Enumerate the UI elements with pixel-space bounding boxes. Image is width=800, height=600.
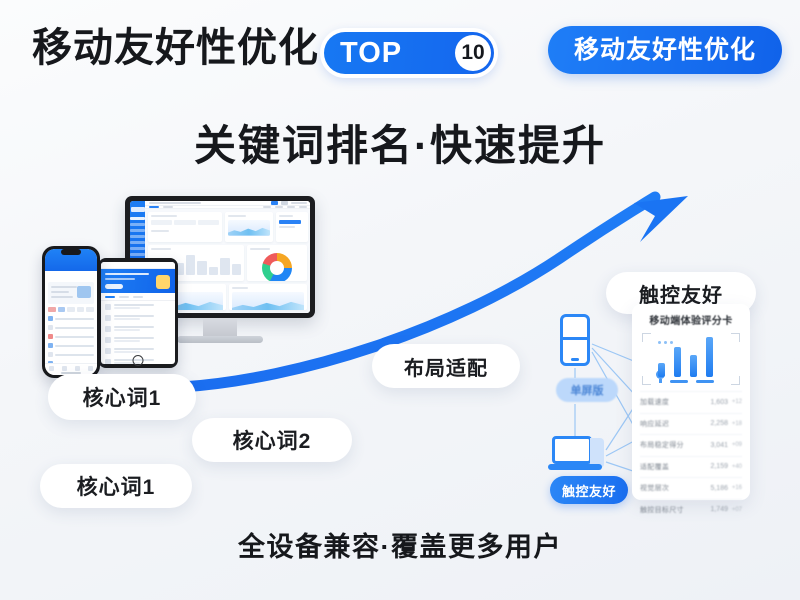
poster-canvas: 移动友好性优化 TOP 10 移动友好性优化 关键词排名·快速提升 (0, 0, 800, 600)
diagram-device-chip: 单屏版 (556, 378, 618, 402)
topbar-chip (281, 201, 288, 205)
list-item (101, 323, 175, 334)
diagram-laptop-icon (552, 436, 604, 476)
list-item (101, 301, 175, 312)
row-value: 2,258 (702, 420, 728, 427)
score-card: 移动端体验评分卡 加载速度 1,603 +12 响应延迟 (632, 304, 750, 500)
dashboard-nav-item (130, 229, 145, 232)
row-delta: +16 (728, 485, 742, 491)
row-name: 适配覆盖 (640, 462, 702, 472)
row-value: 2,159 (702, 463, 728, 470)
table-row: 布局稳定得分 3,041 +09 (640, 434, 742, 456)
tablet-hero-banner (101, 269, 175, 293)
row-value: 1,749 (702, 506, 728, 513)
header-tag-pill: 移动友好性优化 (548, 26, 782, 74)
tablet-bezel (98, 258, 178, 368)
list-item (101, 334, 175, 345)
footer-tagline: 全设备兼容·覆盖更多用户 (0, 528, 800, 566)
keyword-pill-1[interactable]: 核心词1 (48, 374, 196, 420)
phone-bezel (42, 246, 100, 378)
row-name: 响应延迟 (640, 419, 702, 429)
headline-row: 移动友好性优化 TOP 10 移动友好性优化 (32, 24, 772, 80)
list-item (45, 314, 97, 323)
rank-badge-inner: TOP 10 (324, 32, 494, 74)
row-delta: +18 (728, 421, 742, 427)
table-row: 响应延迟 2,258 +18 (640, 413, 742, 435)
monitor-stand (203, 318, 237, 338)
card-thumbnail (77, 286, 91, 298)
rank-badge-label: TOP (340, 32, 402, 74)
tablet-mockup (98, 258, 178, 368)
row-delta: +09 (728, 442, 742, 448)
keyword-pill-3[interactable]: 核心词1 (40, 464, 192, 508)
score-card-chart (642, 333, 740, 385)
list-item (45, 323, 97, 332)
diagram-cta-chip[interactable]: 触控友好 (550, 476, 628, 504)
diagram-phone-icon (560, 314, 590, 366)
row-name: 布局稳定得分 (640, 440, 702, 450)
keyword-pill-2[interactable]: 核心词2 (192, 418, 352, 462)
row-delta: +40 (728, 464, 742, 470)
tablet-screen (101, 262, 175, 364)
tablet-home-button (133, 355, 144, 366)
table-row: 视觉层次 5,186 +16 (640, 477, 742, 499)
table-row: 触控目标尺寸 1,749 +07 (640, 499, 742, 521)
dashboard-nav-item (130, 241, 145, 244)
donut-chart (262, 253, 292, 282)
topbar-chip (271, 201, 278, 205)
row-name: 视觉层次 (640, 483, 702, 493)
list-item (45, 332, 97, 341)
score-card-rows: 加载速度 1,603 +12 响应延迟 2,258 +18 布局稳定得分 3,0… (640, 389, 742, 520)
chart-bars (658, 337, 730, 377)
dashboard-nav-item (130, 235, 145, 238)
phone-screen (45, 249, 97, 375)
row-value: 1,603 (702, 399, 728, 406)
dashboard-nav-item (130, 253, 145, 256)
phone-notch (61, 249, 81, 255)
dashboard-nav-item (130, 247, 145, 250)
row-value: 3,041 (702, 442, 728, 449)
touch-diagram: 单屏版 触控友好 移动端体验评分卡 加载速度 (540, 300, 790, 520)
search-input[interactable] (49, 272, 93, 279)
hero-illustration (156, 275, 170, 289)
list-item (101, 312, 175, 323)
tablet-tabs (101, 293, 175, 301)
list-item (45, 350, 97, 359)
header-tag-pill-label: 移动友好性优化 (574, 26, 756, 74)
row-value: 5,186 (702, 485, 728, 492)
monitor-base (177, 336, 263, 343)
phone-chip-row (45, 307, 97, 314)
table-row: 适配覆盖 2,159 +40 (640, 456, 742, 478)
device-mockups (30, 196, 330, 376)
row-name: 加载速度 (640, 397, 702, 407)
row-delta: +07 (728, 507, 742, 513)
rank-badge: TOP 10 (320, 28, 498, 78)
sub-title: 关键词排名·快速提升 (0, 119, 800, 173)
phone-feature-card (48, 282, 94, 304)
rank-badge-circle: 10 (455, 35, 491, 71)
row-delta: +12 (728, 399, 742, 405)
dashboard-nav-item (130, 223, 145, 226)
phone-mockup (42, 246, 100, 378)
keyword-pill-layout[interactable]: 布局适配 (372, 344, 520, 388)
page-title: 移动友好性优化 (32, 22, 319, 74)
table-row: 加载速度 1,603 +12 (640, 391, 742, 413)
list-item (45, 341, 97, 350)
score-card-title: 移动端体验评分卡 (640, 312, 742, 327)
dashboard-nav-item (130, 217, 145, 220)
rank-badge-value: 10 (461, 35, 484, 71)
tablet-statusbar (101, 262, 175, 269)
row-name: 触控目标尺寸 (640, 505, 702, 515)
dashboard-logo (131, 207, 145, 212)
